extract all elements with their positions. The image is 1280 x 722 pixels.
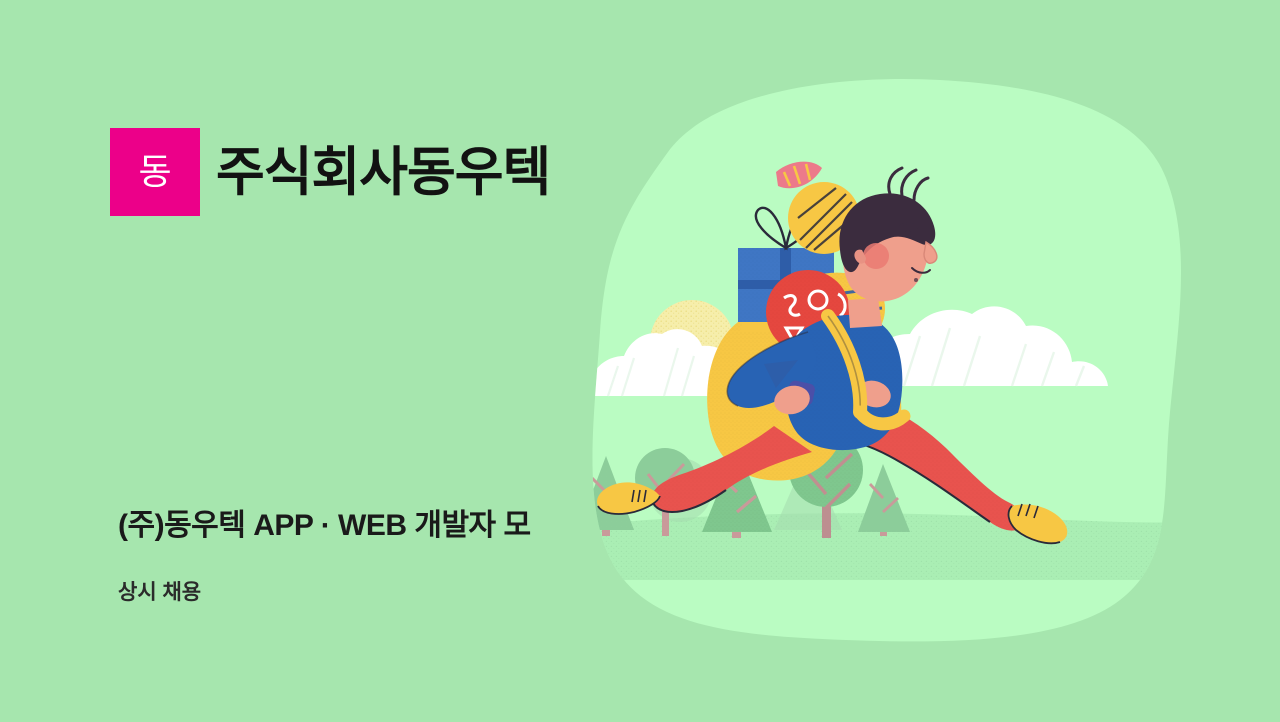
neck	[848, 298, 882, 328]
company-header: 동 주식회사동우텍	[110, 128, 550, 216]
company-logo-char: 동	[138, 154, 171, 190]
company-logo-badge: 동	[110, 128, 200, 216]
job-posting-banner: 동 주식회사동우텍 (주)동우텍 APP · WEB 개발자 모 상시 채용	[0, 0, 1280, 722]
running-delivery-man-illustration	[560, 60, 1200, 660]
job-title[interactable]: (주)동우텍 APP · WEB 개발자 모	[118, 500, 531, 544]
hiring-status-label: 상시 채용	[118, 576, 201, 606]
company-name: 주식회사동우텍	[216, 146, 550, 199]
